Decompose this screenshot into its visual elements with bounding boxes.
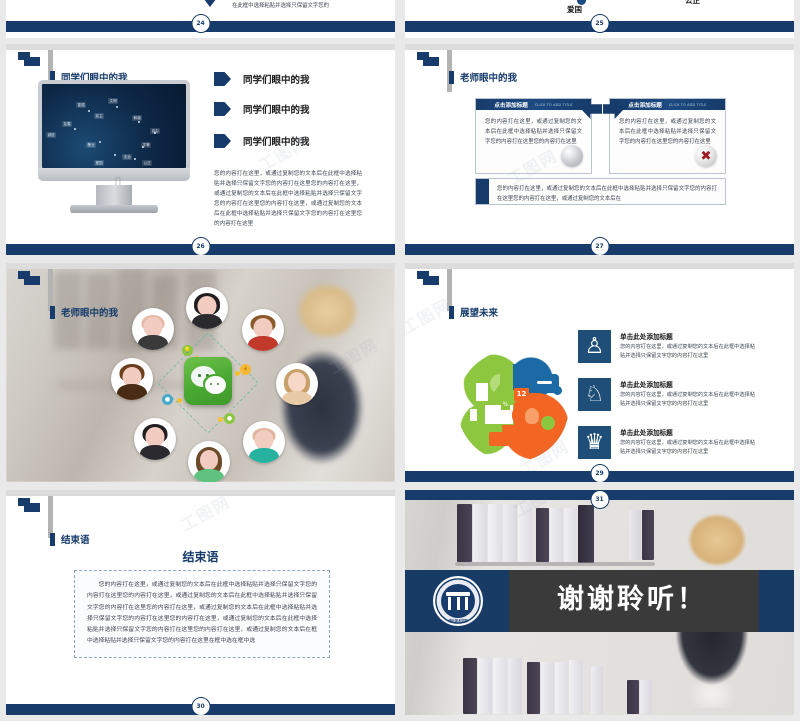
content-card-left[interactable]: 点击添加标题 CLICK TO ADD TITLE 您的内容打在这里，或通过复制… (475, 98, 592, 174)
footer-bar: 24 (6, 21, 395, 32)
corner-flag-icon (417, 271, 439, 287)
binder (541, 662, 554, 714)
gate-icon (446, 592, 470, 610)
page-badge: 25 (590, 14, 609, 33)
card-header: 点击添加标题 CLICK TO ADD TITLE (476, 99, 591, 110)
feature-text: 您的内容打在这里，或通过复制您的文本后在此框中选择粘贴并选择只保留文字您的内容打… (620, 343, 760, 361)
avatar (188, 441, 230, 482)
avatar (132, 308, 174, 350)
feature-text: 您的内容打在这里，或通过复制您的文本后在此框中选择粘贴并选择只保留文字您的内容打… (620, 391, 760, 409)
page-title-text: 老师眼中的我 (460, 70, 517, 84)
bullet-label: 同学们眼中的我 (243, 72, 310, 86)
binder (518, 504, 532, 562)
page-title-30: 结束语 (50, 532, 90, 546)
page-title-text: 老师眼中的我 (61, 305, 118, 319)
bullet-label: 同学们眼中的我 (243, 134, 310, 148)
net-node: 民主 (94, 113, 104, 119)
footer-bar: 30 (6, 704, 395, 715)
imac-base (70, 205, 158, 213)
binder (627, 680, 639, 714)
conclusion-paragraph: 您的内容打在这里，或通过复制您的文本后在此框中选择粘贴并选择只保留文字您的内容打… (87, 580, 317, 648)
feature-title: 单击此处添加标题 (620, 379, 673, 389)
binder (493, 658, 507, 714)
binder (508, 658, 522, 714)
avatar (242, 309, 284, 351)
net-node: 法治 (122, 154, 132, 160)
avatar (276, 363, 318, 405)
net-node: 敬业 (86, 142, 96, 148)
binder (640, 680, 652, 714)
binder (478, 658, 492, 714)
corner-flag-icon (417, 52, 439, 68)
seal-inner (441, 584, 475, 618)
page-title-27: 老师眼中的我 (449, 70, 517, 84)
page-badge: 30 (191, 697, 210, 715)
chess-piece-icon: ♙ (585, 336, 605, 358)
partial-caption-24: 在此框中选择粘贴并选择只保留文字您的 (232, 1, 329, 9)
binder (569, 660, 583, 714)
slide-thumb-30[interactable]: 结束语 结束语 您的内容打在这里，或通过复制您的文本后在此框中选择粘贴并选择只保… (6, 490, 395, 715)
card-title-zh: 点击添加标题 (628, 101, 662, 109)
binder (488, 504, 502, 562)
chess-icon-box: ♙ (578, 330, 611, 363)
net-node: 富强 (76, 102, 86, 108)
net-node: 友善 (62, 121, 72, 127)
feature-title: 单击此处添加标题 (620, 331, 673, 341)
avatar (243, 421, 285, 463)
page-title-28: 老师眼中的我 (50, 305, 118, 319)
seal-bottom-text: 湖北美术学院 (433, 618, 483, 623)
slide-thumb-28[interactable]: 老师眼中的我 💡 ⚡ ● ● (6, 263, 395, 482)
title-tick (50, 533, 55, 546)
body-paragraph: 您的内容打在这里，或通过复制您的文本后在此框中选择粘贴并选择只保留文字您的内容打… (214, 170, 362, 230)
net-node: 文明 (108, 98, 118, 104)
bullet-label: 同学们眼中的我 (243, 102, 310, 116)
slide-thumb-27[interactable]: 老师眼中的我 点击添加标题 CLICK TO ADD TITLE 您的内容打在这… (405, 44, 794, 255)
net-node: 平等 (141, 142, 151, 148)
binder (550, 508, 563, 562)
arrow-bullet-icon (214, 102, 231, 116)
arrow-bullet-icon (214, 72, 231, 86)
bulb-icon: 💡 (182, 345, 193, 356)
binder (591, 666, 603, 714)
binder (457, 504, 472, 562)
footer-bar: 31 (405, 490, 794, 500)
bullet-row: 同学们眼中的我 (214, 102, 310, 116)
binder (527, 662, 540, 714)
avatar (134, 418, 176, 460)
imac-screen: 富强 文明 民主 友善 和谐 诚信 自由 平等 敬业 法治 爱国 公正 (38, 80, 190, 172)
page-title-text: 结束语 (61, 532, 90, 546)
slide-thumb-26[interactable]: 同学们眼中的我 富强 文明 民主 友善 和谐 诚信 自由 平等 (6, 44, 395, 255)
slide-thumb-25[interactable]: 爱国 公正 25 (405, 0, 794, 38)
avatar (186, 287, 228, 329)
chat-icon: ● (162, 394, 173, 405)
net-node: 诚信 (46, 132, 56, 138)
content-card-right[interactable]: 点击添加标题 CLICK TO ADD TITLE 您的内容打在这里，或通过复制… (609, 98, 726, 174)
card-body-text: 您的内容打在这里，或通过复制您的文本后在此框中选择粘贴并选择只保留文字您的内容打… (610, 110, 725, 147)
net-node: 爱国 (94, 160, 104, 166)
wechat-icon[interactable] (184, 357, 232, 405)
spark-dot (218, 417, 223, 422)
corner-flag-icon (18, 271, 40, 287)
card-header: 点击添加标题 CLICK TO ADD TITLE (610, 99, 725, 110)
binder (503, 504, 517, 562)
binder (564, 508, 577, 562)
title-tick (50, 306, 55, 319)
imac-illustration: 富强 文明 民主 友善 和谐 诚信 自由 平等 敬业 法治 爱国 公正  (38, 80, 198, 220)
avatar (111, 358, 153, 400)
navy-accent-block (476, 179, 489, 204)
page-title-29: 展望未来 (449, 305, 498, 319)
university-seal-logo: HUBEI INSTITUTE OF FINE ARTS 湖北美术学院 (432, 575, 484, 627)
title-tick (449, 71, 454, 84)
bullet-row: 同学们眼中的我 (214, 134, 310, 148)
card-title-zh: 点击添加标题 (494, 101, 528, 109)
chess-piece-icon: ♛ (585, 432, 605, 454)
spark-dot (177, 398, 182, 403)
gray-sphere-icon (561, 145, 583, 167)
bullet-row: 同学们眼中的我 (214, 72, 310, 86)
title-tick (449, 306, 454, 319)
binder (473, 504, 487, 562)
watermark: 工图网 (176, 490, 235, 536)
net-node: 和谐 (132, 115, 142, 121)
binder (463, 658, 477, 714)
partial-word-right: 公正 (685, 0, 700, 6)
chess-piece-icon: ♘ (585, 384, 605, 406)
top-strip (6, 44, 395, 50)
arrow-bullet-icon (214, 134, 231, 148)
card-body-text: 您的内容打在这里，或通过复制您的文本后在此框中选择粘贴并选择只保留文字您的内容打… (476, 110, 591, 147)
card-title-en: CLICK TO ADD TITLE (535, 103, 573, 107)
top-strip (405, 44, 794, 50)
feature-title: 单击此处添加标题 (620, 427, 673, 437)
thanks-text: 谢谢聆听！ (557, 586, 707, 613)
chess-icon-box: ♘ (578, 378, 611, 411)
footer-bar: 25 (405, 21, 794, 32)
top-strip (6, 490, 395, 496)
down-arrow-icon (200, 0, 220, 7)
page-title-text: 展望未来 (460, 305, 498, 319)
wide-card-text: 您的内容打在这里，或通过复制您的文本后在此框中选择粘贴并选择只保留文字您的内容打… (489, 179, 725, 204)
binder (555, 662, 568, 714)
partial-word-left: 爱国 (567, 4, 582, 15)
spark-dot (235, 371, 240, 376)
top-strip (405, 263, 794, 269)
card-title-en: CLICK TO ADD TITLE (669, 103, 707, 107)
footer-bar: 29 (405, 471, 794, 482)
wide-note-card[interactable]: 您的内容打在这里，或通过复制您的文本后在此框中选择粘贴并选择只保留文字您的内容打… (475, 178, 726, 205)
page-badge: 29 (590, 464, 609, 482)
corner-flag-icon (18, 52, 40, 68)
chess-icon-box: ♛ (578, 426, 611, 459)
imac-neck (96, 185, 132, 207)
globe-icon: ● (224, 413, 235, 424)
slide-thumb-29[interactable]: 展望未来 12 % ♙ 单击此处添加标题 您的内容打在这里，或通过复制 (405, 263, 794, 482)
conclusion-text-box[interactable]: 您的内容打在这里，或通过复制您的文本后在此框中选择粘贴并选择只保留文字您的内容打… (74, 570, 330, 658)
top-strip (6, 263, 395, 269)
page-badge: 26 (191, 237, 210, 255)
page-badge: 31 (590, 490, 609, 509)
binder (578, 505, 594, 563)
infographic-circle: 12 % (457, 350, 569, 462)
corner-flag-icon (18, 498, 40, 514)
page-badge: 24 (191, 14, 210, 33)
red-x-icon: ✖ (695, 145, 717, 167)
end-heading: 结束语 (6, 548, 395, 565)
net-node: 自由 (150, 128, 160, 134)
binder (536, 508, 549, 562)
wechat-bubble-small (205, 376, 226, 394)
feature-text: 您的内容打在这里，或通过复制您的文本后在此框中选择粘贴并选择只保留文字您的内容打… (620, 439, 760, 457)
slide-thumb-24[interactable]: 在此框中选择粘贴并选择只保留文字您的 24 (6, 0, 395, 38)
binder (629, 510, 641, 560)
footer-bar: 27 (405, 244, 794, 255)
page-badge: 27 (590, 237, 609, 255)
net-node: 公正 (142, 160, 152, 166)
footer-bar: 26 (6, 244, 395, 255)
bolt-icon: ⚡ (240, 364, 251, 375)
slide-thumb-31[interactable]: 谢谢聆听！ HUBEI INSTITUTE OF FINE ARTS 湖北美术学… (405, 490, 794, 715)
slide-thumbnail-grid: 在此框中选择粘贴并选择只保留文字您的 24 爱国 公正 25 同学们眼中的我 (0, 0, 800, 721)
